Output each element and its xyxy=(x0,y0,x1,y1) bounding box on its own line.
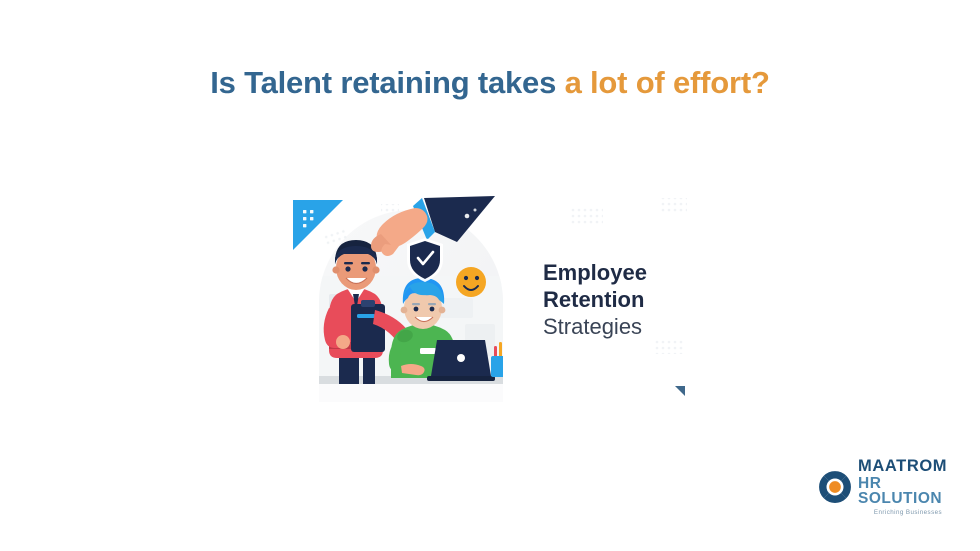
heading-line-2: Retention xyxy=(543,287,644,312)
logo-line-1: MAATROM xyxy=(858,458,958,475)
slide-canvas: Is Talent retaining takes a lot of effor… xyxy=(0,0,980,551)
logo-tagline: Enriching Businesses xyxy=(858,510,958,516)
title-segment-accent: a lot of effort? xyxy=(565,65,770,100)
laptop-icon xyxy=(427,340,495,381)
heading-line-3: Strategies xyxy=(543,314,642,339)
title-segment-primary: Is Talent retaining takes xyxy=(210,65,564,100)
maatrom-gear-mark-icon xyxy=(818,470,852,504)
heading-line-1: Employee xyxy=(543,260,647,285)
smiley-face-icon xyxy=(456,267,486,297)
employee-retention-illustration: Employee Retention Strategies xyxy=(289,190,689,402)
illustration-heading: Employee Retention Strategies xyxy=(543,260,647,339)
logo-wordmark: MAATROM HR SOLUTION Enriching Businesses xyxy=(858,458,958,516)
page-title: Is Talent retaining takes a lot of effor… xyxy=(0,64,980,101)
maatrom-hr-solution-logo: MAATROM HR SOLUTION Enriching Businesses xyxy=(818,463,958,511)
logo-line-2: HR SOLUTION xyxy=(858,476,958,507)
